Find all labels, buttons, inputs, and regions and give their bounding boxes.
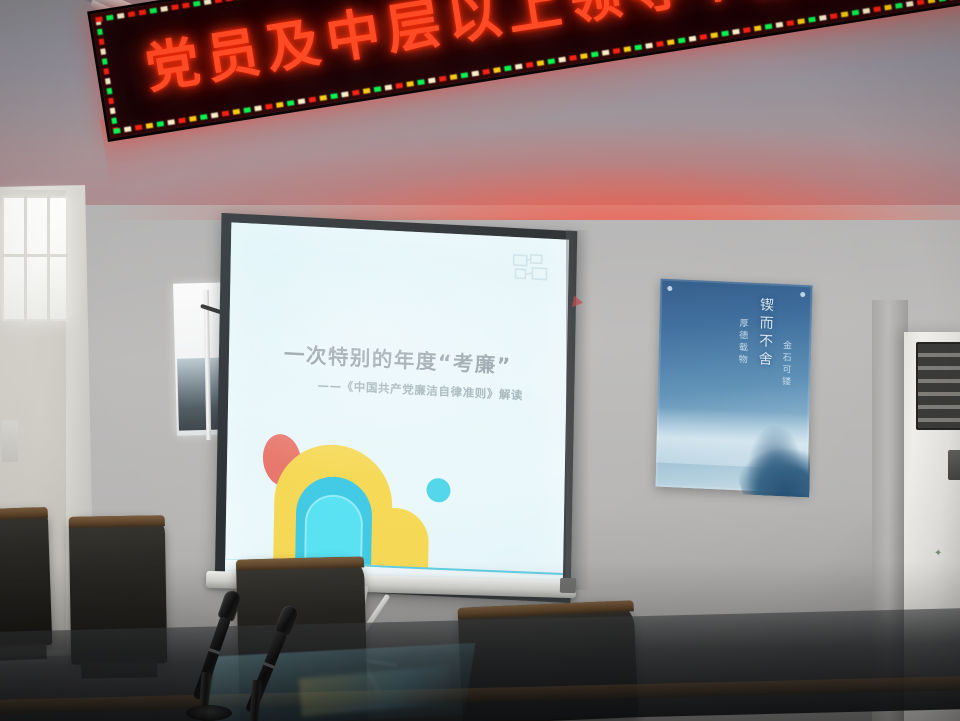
- chair-crest-rail: [69, 515, 165, 528]
- poster-calligraphy-column-2: 厚德载物: [735, 318, 749, 367]
- projection-screen[interactable]: 一次特别的年度“考廉” ——《中国共产党廉洁自律准则》解读: [215, 213, 578, 603]
- slide-shape-yellow-bump: [362, 506, 429, 567]
- slide-shape-cyan-dot: [426, 478, 450, 503]
- chair-crest-rail: [0, 507, 48, 520]
- conference-chair[interactable]: [0, 507, 52, 647]
- projection-screen-frame: 一次特别的年度“考廉” ——《中国共产党廉洁自律准则》解读: [215, 213, 578, 603]
- slide-watermark-logo: [510, 251, 553, 287]
- poster-mount-screw: [800, 292, 805, 297]
- meeting-room-scene: 党员及中层以上领导干部政治学习 一次特别的年度“考廉” ——《中国共产党廉洁自律…: [0, 0, 960, 721]
- air-conditioner-control-panel[interactable]: [948, 450, 960, 480]
- wall-red-marker: [572, 295, 584, 308]
- door-push-plate: [2, 420, 18, 462]
- chair-crest-rail: [236, 556, 364, 570]
- projected-slide: 一次特别的年度“考廉” ——《中国共产党廉洁自律准则》解读: [225, 222, 569, 592]
- poster-calligraphy-column-3: 金石可镂: [779, 340, 793, 389]
- window-mullion-vertical-2: [47, 196, 50, 321]
- wall-poster: 锲而不舍 厚德载物 金石可镂: [656, 279, 813, 494]
- screen-roller-end-cap: [560, 578, 576, 593]
- air-conditioner-vent-grille: [916, 342, 960, 430]
- poster-mount-screw: [667, 286, 672, 291]
- slide-shape-cyan-inner-arch: [304, 493, 363, 564]
- window-mullion-vertical: [24, 196, 27, 321]
- air-conditioner-brand-mark: ✦: [934, 548, 943, 559]
- door-window-pane: [2, 196, 68, 321]
- microphone-stand-base: [186, 705, 232, 721]
- window-mullion-horizontal: [2, 254, 68, 257]
- poster-calligraphy-main: 锲而不舍: [754, 297, 776, 370]
